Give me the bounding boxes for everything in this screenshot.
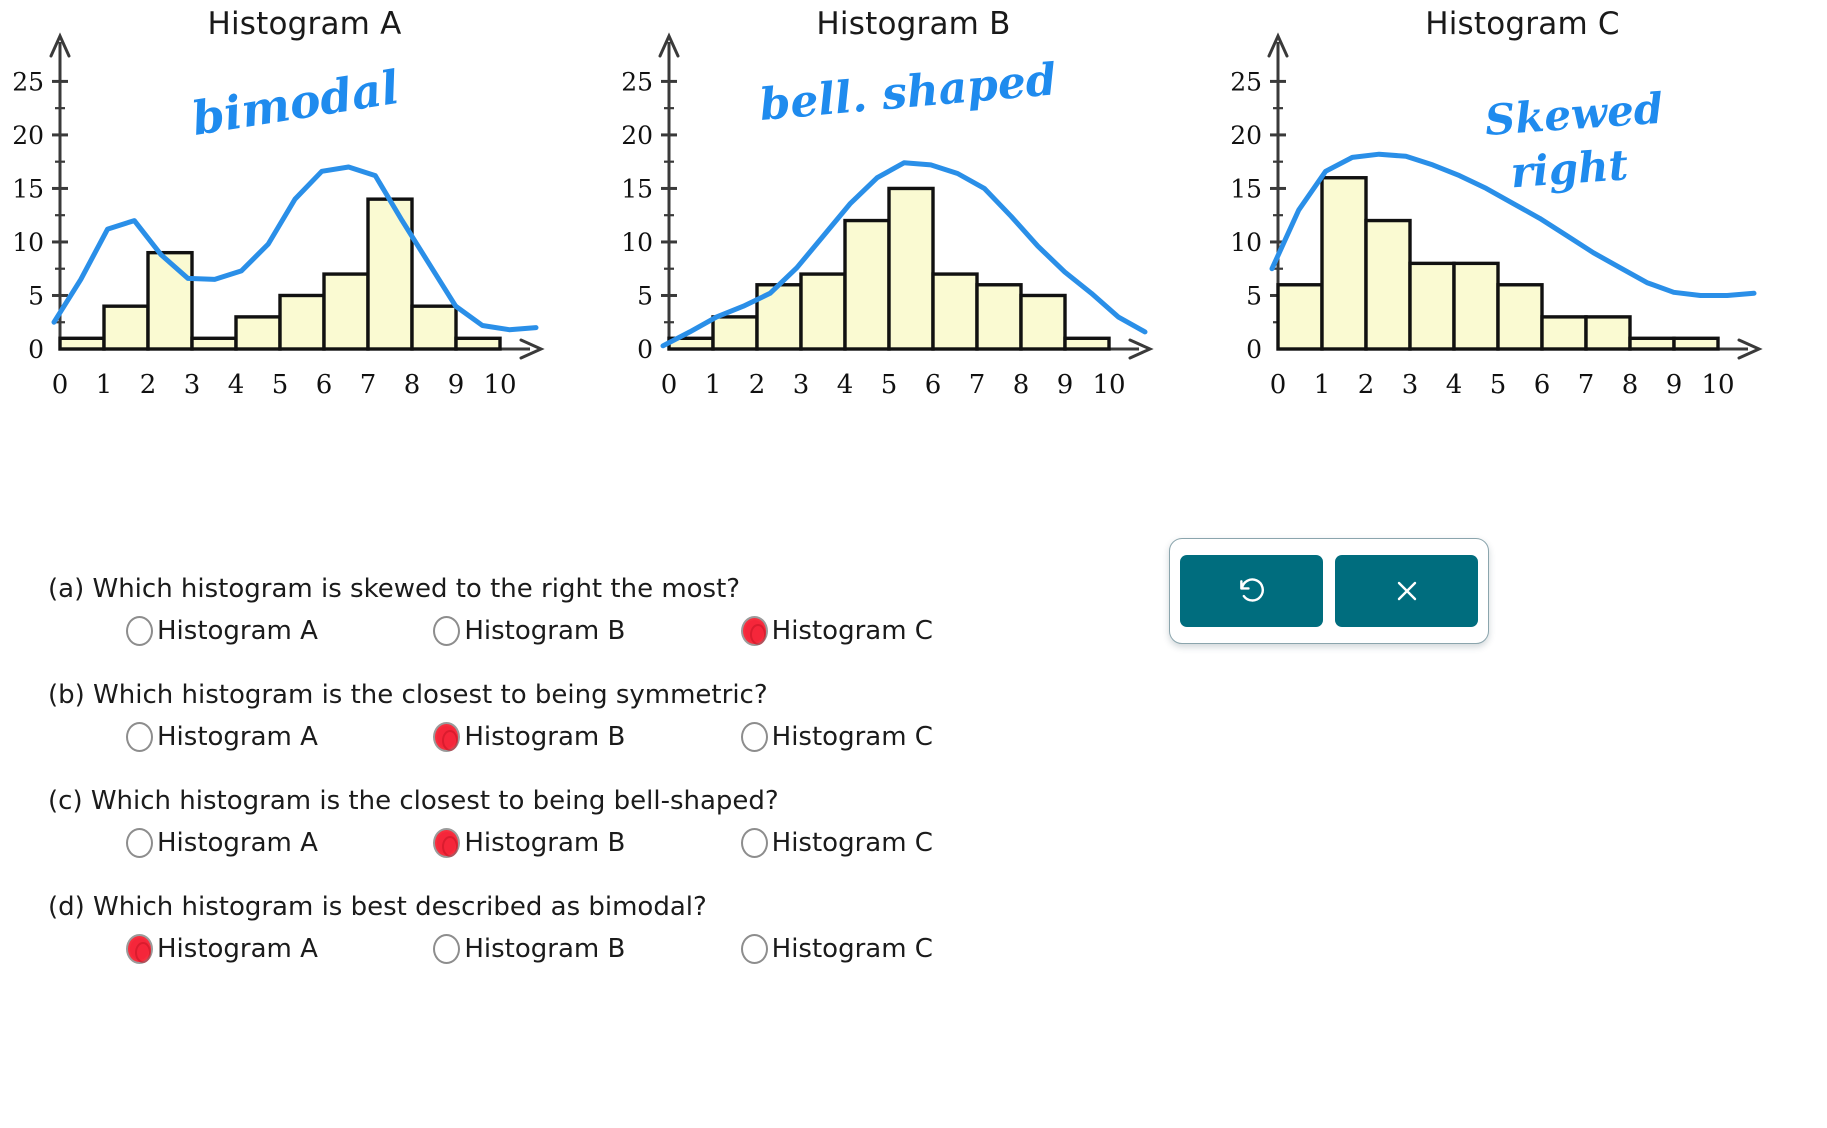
svg-text:right: right [1509, 140, 1630, 197]
svg-text:25: 25 [1230, 67, 1262, 96]
chart-canvas-b: 0510152025012345678910bell. shaped [609, 0, 1218, 480]
radio-selected[interactable] [433, 722, 460, 752]
svg-text:8: 8 [1013, 370, 1030, 400]
svg-text:7: 7 [1578, 370, 1595, 400]
svg-text:bell. shaped: bell. shaped [758, 54, 1059, 131]
option-row-a: Histogram AHistogram BHistogram C [48, 616, 1048, 660]
option-a-c[interactable]: Histogram C [741, 616, 1048, 646]
svg-text:3: 3 [1402, 370, 1419, 400]
option-c-b[interactable]: Histogram B [433, 828, 740, 858]
question-text-a: (a) Which histogram is skewed to the rig… [48, 560, 1048, 616]
svg-text:6: 6 [316, 370, 333, 400]
svg-text:7: 7 [360, 370, 377, 400]
option-d-c[interactable]: Histogram C [741, 934, 1048, 964]
svg-text:1: 1 [705, 370, 722, 400]
question-d: (d) Which histogram is best described as… [48, 878, 1048, 978]
svg-text:6: 6 [925, 370, 942, 400]
radio-selected[interactable] [126, 934, 153, 964]
option-d-b[interactable]: Histogram B [433, 934, 740, 964]
option-b-a[interactable]: Histogram A [126, 722, 433, 752]
svg-text:0: 0 [637, 335, 653, 364]
chart-histogram-c: Histogram C 0510152025012345678910Skewed… [1218, 0, 1827, 480]
option-row-d: Histogram AHistogram BHistogram C [48, 934, 1048, 978]
option-c-a[interactable]: Histogram A [126, 828, 433, 858]
svg-text:10: 10 [1230, 228, 1262, 257]
radio-unselected[interactable] [433, 616, 460, 646]
svg-text:15: 15 [1230, 174, 1262, 203]
question-text-d: (d) Which histogram is best described as… [48, 878, 1048, 934]
radio-unselected[interactable] [126, 828, 153, 858]
option-label: Histogram A [157, 828, 318, 858]
svg-text:2: 2 [1358, 370, 1375, 400]
chart-histogram-a: Histogram A 0510152025012345678910bimoda… [0, 0, 609, 480]
option-label: Histogram B [464, 828, 625, 858]
svg-text:0: 0 [28, 335, 44, 364]
svg-text:1: 1 [96, 370, 113, 400]
close-x-icon [1391, 575, 1423, 607]
svg-text:3: 3 [793, 370, 810, 400]
radio-unselected[interactable] [741, 828, 768, 858]
worksheet-page: Histogram A 0510152025012345678910bimoda… [0, 0, 1827, 1128]
svg-text:8: 8 [1622, 370, 1639, 400]
option-label: Histogram C [772, 616, 933, 646]
svg-text:5: 5 [1490, 370, 1507, 400]
svg-text:10: 10 [1092, 370, 1125, 400]
chart-canvas-c: 0510152025012345678910Skewedright [1218, 0, 1827, 480]
svg-text:9: 9 [448, 370, 465, 400]
option-row-b: Histogram AHistogram BHistogram C [48, 722, 1048, 766]
svg-text:10: 10 [483, 370, 516, 400]
chart-annotation: Skewedright [1483, 84, 1668, 199]
chart-annotation: bell. shaped [758, 54, 1059, 131]
svg-text:1: 1 [1314, 370, 1331, 400]
svg-text:6: 6 [1534, 370, 1551, 400]
svg-text:2: 2 [140, 370, 157, 400]
option-label: Histogram B [464, 616, 625, 646]
svg-text:3: 3 [184, 370, 201, 400]
option-b-c[interactable]: Histogram C [741, 722, 1048, 752]
svg-text:0: 0 [1270, 370, 1287, 400]
svg-text:0: 0 [661, 370, 678, 400]
option-label: Histogram A [157, 616, 318, 646]
radio-unselected[interactable] [126, 616, 153, 646]
svg-text:Skewed: Skewed [1483, 84, 1664, 145]
option-a-b[interactable]: Histogram B [433, 616, 740, 646]
undo-button[interactable] [1180, 555, 1323, 627]
svg-text:10: 10 [621, 228, 653, 257]
svg-text:2: 2 [749, 370, 766, 400]
radio-unselected[interactable] [126, 722, 153, 752]
svg-text:20: 20 [12, 121, 44, 150]
svg-text:5: 5 [28, 281, 44, 310]
svg-text:9: 9 [1057, 370, 1074, 400]
svg-text:5: 5 [881, 370, 898, 400]
question-text-c: (c) Which histogram is the closest to be… [48, 772, 1048, 828]
option-a-a[interactable]: Histogram A [126, 616, 433, 646]
questions-list: (a) Which histogram is skewed to the rig… [48, 560, 1048, 984]
svg-text:5: 5 [1246, 281, 1262, 310]
svg-text:7: 7 [969, 370, 986, 400]
radio-selected[interactable] [741, 616, 768, 646]
svg-text:20: 20 [1230, 121, 1262, 150]
chart-annotation: bimodal [188, 60, 402, 146]
option-label: Histogram C [772, 828, 933, 858]
svg-text:0: 0 [1246, 335, 1262, 364]
option-label: Histogram A [157, 934, 318, 964]
svg-text:15: 15 [621, 174, 653, 203]
svg-text:4: 4 [1446, 370, 1463, 400]
svg-text:20: 20 [621, 121, 653, 150]
question-a: (a) Which histogram is skewed to the rig… [48, 560, 1048, 660]
option-label: Histogram A [157, 722, 318, 752]
svg-text:0: 0 [52, 370, 69, 400]
svg-text:10: 10 [12, 228, 44, 257]
question-b: (b) Which histogram is the closest to be… [48, 666, 1048, 766]
svg-text:9: 9 [1666, 370, 1683, 400]
radio-selected[interactable] [433, 828, 460, 858]
svg-text:5: 5 [272, 370, 289, 400]
answer-toolbar [1169, 538, 1489, 644]
undo-rotate-icon [1235, 574, 1269, 608]
option-label: Histogram B [464, 934, 625, 964]
svg-text:15: 15 [12, 174, 44, 203]
svg-text:5: 5 [637, 281, 653, 310]
radio-unselected[interactable] [433, 934, 460, 964]
radio-unselected[interactable] [741, 934, 768, 964]
option-b-b[interactable]: Histogram B [433, 722, 740, 752]
svg-text:4: 4 [837, 370, 854, 400]
histograms-row: Histogram A 0510152025012345678910bimoda… [0, 0, 1827, 480]
close-button[interactable] [1335, 555, 1478, 627]
svg-text:10: 10 [1701, 370, 1734, 400]
chart-canvas-a: 0510152025012345678910bimodal [0, 0, 609, 480]
option-c-c[interactable]: Histogram C [741, 828, 1048, 858]
svg-text:25: 25 [12, 67, 44, 96]
option-label: Histogram C [772, 722, 933, 752]
svg-text:bimodal: bimodal [188, 60, 402, 146]
svg-text:25: 25 [621, 67, 653, 96]
svg-text:4: 4 [228, 370, 245, 400]
radio-unselected[interactable] [741, 722, 768, 752]
option-label: Histogram C [772, 934, 933, 964]
question-c: (c) Which histogram is the closest to be… [48, 772, 1048, 872]
chart-histogram-b: Histogram B 0510152025012345678910bell. … [609, 0, 1218, 480]
svg-text:8: 8 [404, 370, 421, 400]
option-d-a[interactable]: Histogram A [126, 934, 433, 964]
option-label: Histogram B [464, 722, 625, 752]
option-row-c: Histogram AHistogram BHistogram C [48, 828, 1048, 872]
question-text-b: (b) Which histogram is the closest to be… [48, 666, 1048, 722]
